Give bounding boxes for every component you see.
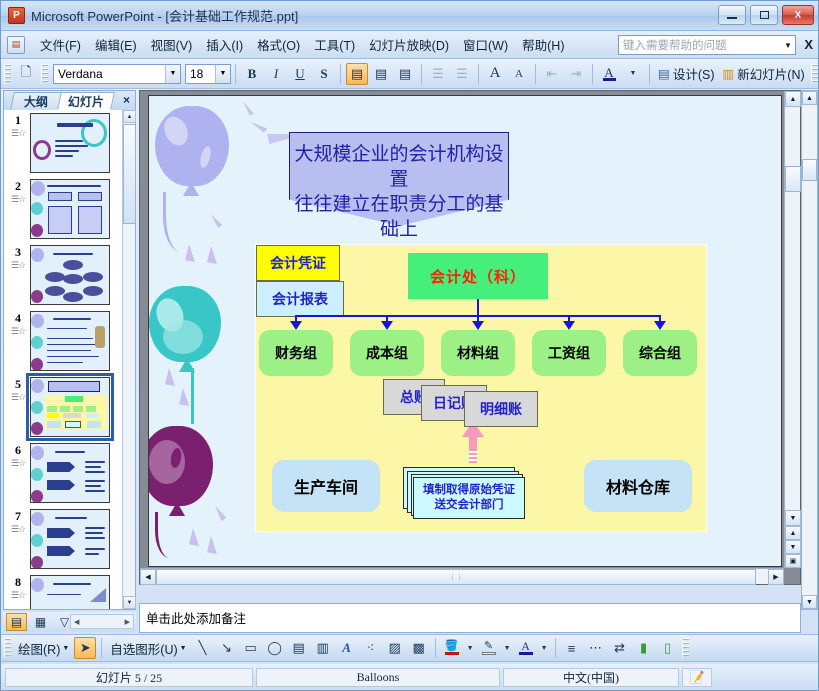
menu-insert[interactable]: 插入(I) (199, 32, 250, 57)
diagram-doc-voucher[interactable]: 会计凭证 (256, 245, 340, 281)
font-color-letter: A (521, 641, 530, 652)
slide-thumbnail-5[interactable] (30, 377, 110, 437)
slide-title-shape[interactable]: 大规模企业的会计机构设置 往往建立在职责分工的基础上 (289, 132, 509, 226)
diagram-group-3[interactable]: 材料组 (441, 330, 515, 376)
slide-editing-area[interactable]: 大规模企业的会计机构设置 往往建立在职责分工的基础上 会计处（科） (139, 90, 801, 585)
balloon-shape (31, 534, 43, 547)
balloon-shape (31, 401, 43, 414)
flow-label-line-2: 送交会计部门 (435, 498, 504, 513)
thumb-num-4: 4 (6, 311, 30, 326)
font-name-combo[interactable]: Verdana ▼ (53, 64, 181, 84)
design-icon: ▤ (658, 66, 670, 81)
thumbnail-number: 2 ☰☆ (6, 179, 30, 205)
separator (235, 64, 236, 84)
font-color-swatch (603, 78, 616, 81)
picture-icon[interactable]: ▩ (408, 637, 430, 659)
scroll-up-icon[interactable]: ▲ (123, 110, 136, 123)
list-item[interactable]: 3 ☰☆ (4, 242, 124, 308)
numbered-list-icon[interactable]: ☰ (427, 63, 449, 85)
slide-sorter-view-button[interactable]: ▦ (30, 613, 51, 631)
scroll-left-icon[interactable]: ◀ (140, 569, 156, 585)
scroll-left-icon[interactable]: ◀ (71, 618, 82, 626)
title-bar: P Microsoft PowerPoint - [会计基础工作规范.ppt] … (1, 1, 819, 31)
balloon-shape (31, 446, 44, 460)
new-slide-icon: ▥ (722, 66, 734, 81)
menu-edit[interactable]: 编辑(E) (88, 32, 144, 57)
transition-star-icon[interactable]: ☰☆ (6, 590, 30, 601)
status-language[interactable]: 中文(中国) (503, 668, 679, 687)
slide-canvas[interactable]: 大规模企业的会计机构设置 往往建立在职责分工的基础上 会计处（科） (148, 95, 782, 567)
scrollbar-thumb[interactable] (802, 159, 817, 181)
thumb-num-7: 7 (6, 509, 30, 524)
toolbar-overflow-handle[interactable] (682, 638, 689, 658)
arrow-down-icon (654, 321, 666, 330)
thumb-num-3: 3 (6, 245, 30, 260)
slide-horizontal-scrollbar[interactable]: ◀ ⋮⋮ ▶ (140, 568, 784, 584)
menu-file[interactable]: 文件(F) (33, 32, 88, 57)
chevron-down-icon[interactable]: ▼ (215, 65, 230, 83)
separator (478, 64, 479, 84)
slide-title-text: 大规模企业的会计机构设置 往往建立在职责分工的基础上 (289, 142, 509, 242)
formatting-toolbar: 🗋 Verdana ▼ 18 ▼ B I U S ▤ ▤ ▤ ☰ ☰ A A ⇤… (1, 59, 819, 89)
arrow-down-icon (381, 321, 393, 330)
scroll-down-icon[interactable]: ▼ (802, 595, 817, 609)
toolbar-overflow-handle[interactable] (811, 64, 818, 84)
powerpoint-window: P Microsoft PowerPoint - [会计基础工作规范.ppt] … (0, 0, 819, 691)
scroll-right-icon[interactable]: ▶ (768, 569, 784, 585)
toolbar-grip[interactable] (4, 638, 11, 658)
draw-menu-label: 绘图(R) (18, 639, 60, 658)
bold-button[interactable]: B (241, 63, 263, 85)
shadow-style-icon[interactable]: ▮ (633, 637, 655, 659)
align-right-icon[interactable]: ▤ (394, 63, 416, 85)
scrollbar-thumb[interactable] (785, 166, 801, 192)
scroll-right-icon[interactable]: ▶ (122, 618, 133, 626)
line-color-icon[interactable]: ✎ (478, 637, 500, 659)
menu-view[interactable]: 视图(V) (144, 32, 200, 57)
balloon-shape (31, 202, 43, 215)
diagram-doc-subsidiary[interactable]: 明细账 (464, 391, 538, 427)
chevron-down-icon[interactable]: ▼ (781, 41, 795, 50)
transition-star-icon[interactable]: ☰☆ (6, 326, 30, 337)
arrow-stripes (469, 451, 477, 463)
vertical-text-box-icon[interactable]: ▥ (312, 637, 334, 659)
sparkle (248, 122, 267, 133)
drawing-toolbar: 绘图(R) ▼ ➤ 自选图形(U) ▼ ╲ ↘ ▭ ◯ ▤ ▥ A ⁖ ▨ ▩ … (1, 634, 819, 662)
dash-style-icon[interactable]: ⋯ (585, 637, 607, 659)
title-decoration-flag (267, 134, 289, 144)
list-item[interactable]: 2 ☰☆ (4, 176, 124, 242)
balloon-shape (31, 468, 43, 481)
close-document-button[interactable]: X (804, 37, 813, 52)
separator (101, 638, 102, 658)
diagram-document-stack[interactable]: 填制取得原始凭证 送交会计部门 (403, 467, 525, 519)
transition-star-icon[interactable]: ☰☆ (6, 194, 30, 205)
menu-format[interactable]: 格式(O) (250, 32, 307, 57)
thumb-num-2: 2 (6, 179, 30, 194)
transition-star-icon[interactable]: ☰☆ (6, 128, 30, 139)
slide-thumbnail-7[interactable] (30, 509, 110, 569)
sparkle (189, 528, 199, 546)
text-box-icon[interactable]: ▤ (288, 637, 310, 659)
balloon-shape (31, 314, 44, 328)
design-label: 设计(S) (673, 64, 715, 83)
arrow-down-icon (472, 321, 484, 330)
minimize-button[interactable] (718, 5, 746, 25)
new-slide-label: 新幻灯片(N) (737, 64, 804, 83)
select-arrow-icon[interactable]: ➤ (74, 637, 96, 659)
pane-tabs: 大纲 幻灯片 × (4, 91, 135, 110)
balloon-shape (31, 224, 43, 237)
slide-thumbnail-8[interactable] (30, 575, 110, 609)
balloon-shape (31, 556, 43, 569)
arrow-down-icon (563, 321, 575, 330)
autoshapes-menu-button[interactable]: 自选图形(U) ▼ (106, 637, 190, 660)
rectangle-icon[interactable]: ▭ (240, 637, 262, 659)
status-bar: 幻灯片 5 / 25 Balloons 中文(中国) 📝 (1, 664, 819, 690)
sparkle (210, 506, 228, 522)
close-pane-button[interactable]: × (123, 93, 130, 107)
slide-thumbnail-6[interactable] (30, 443, 110, 503)
slide-thumbnail-2[interactable] (30, 179, 110, 239)
underline-button[interactable]: U (289, 63, 311, 85)
tab-outline-label: 大纲 (24, 93, 48, 110)
balloon-shape (31, 512, 44, 526)
balloon-shape (31, 422, 43, 435)
toolbar-grip-2[interactable] (41, 64, 48, 84)
italic-button[interactable]: I (265, 63, 287, 85)
transition-star-icon[interactable]: ☰☆ (6, 260, 30, 271)
design-button[interactable]: ▤ 设计(S) (654, 62, 718, 85)
scrollbar-thumb[interactable] (123, 124, 136, 224)
window-vertical-scrollbar[interactable]: ▲ ▼ (801, 90, 818, 610)
powerpoint-app-icon: P (8, 7, 25, 24)
sparkle (206, 214, 223, 229)
bulleted-list-icon[interactable]: ☰ (451, 63, 473, 85)
diagram-root-node[interactable]: 会计处（科） (408, 253, 548, 299)
font-color-letter: A (604, 67, 613, 78)
menu-tools[interactable]: 工具(T) (307, 32, 362, 57)
diagram-source-workshop[interactable]: 生产车间 (272, 460, 380, 512)
wordart-icon[interactable]: A (336, 637, 358, 659)
diagram-group-1[interactable]: 财务组 (259, 330, 333, 376)
select-browse-object-icon[interactable]: ▣ (785, 554, 801, 568)
chevron-down-icon[interactable]: ▼ (622, 63, 644, 85)
arrow-style-icon[interactable]: ⇄ (609, 637, 631, 659)
menu-window[interactable]: 窗口(W) (456, 32, 515, 57)
thumbnail-number: 6 ☰☆ (6, 443, 30, 469)
scroll-down-icon[interactable]: ▼ (785, 510, 801, 526)
notes-pane[interactable]: 单击此处添加备注 (139, 603, 801, 633)
separator (421, 64, 422, 84)
font-size-combo[interactable]: 18 ▼ (185, 64, 231, 84)
new-document-icon[interactable]: 🗋 (15, 63, 37, 85)
arrow-icon[interactable]: ↘ (216, 637, 238, 659)
slide-thumbnail-1[interactable] (30, 113, 110, 173)
decrease-font-size-icon[interactable]: A (508, 63, 530, 85)
line-icon[interactable]: ╲ (192, 637, 214, 659)
notes-placeholder[interactable]: 单击此处添加备注 (146, 612, 246, 626)
flow-arrow-up-icon (462, 421, 484, 463)
status-slide-indicator: 幻灯片 5 / 25 (5, 668, 253, 687)
diagram-group-4[interactable]: 工资组 (532, 330, 606, 376)
scroll-up-icon[interactable]: ▲ (785, 91, 801, 107)
thumbnail-number: 8 ☰☆ (6, 575, 30, 601)
list-item[interactable]: 8 ☰☆ (4, 572, 124, 609)
thumbnail-number: 5 ☰☆ (6, 377, 30, 403)
thumbnail-number: 4 ☰☆ (6, 311, 30, 337)
balloon-shape (31, 248, 44, 262)
sparkle (207, 246, 217, 264)
chevron-down-icon[interactable]: ▼ (165, 65, 180, 83)
new-slide-button[interactable]: ▥ 新幻灯片(N) (718, 62, 808, 85)
balloon-shape (31, 358, 43, 371)
status-design-name: Balloons (256, 668, 500, 687)
chevron-down-icon: ▼ (62, 645, 69, 652)
font-color-icon[interactable]: A (598, 63, 620, 85)
diagram-icon[interactable]: ⁖ (360, 637, 382, 659)
menu-slideshow[interactable]: 幻灯片放映(D) (362, 32, 456, 57)
flow-label-line-1: 填制取得原始凭证 (423, 483, 515, 498)
list-item-selected[interactable]: 5 ☰☆ (4, 374, 124, 440)
thumbnail-number: 1 ☰☆ (6, 113, 30, 139)
ask-a-question-box[interactable]: 键入需要帮助的问题 ▼ (618, 35, 796, 55)
slides-outline-pane: 大纲 幻灯片 × 1 ☰☆ (3, 90, 136, 610)
balloon-string (191, 368, 221, 424)
list-item[interactable]: 7 ☰☆ (4, 506, 124, 572)
line-color-swatch (482, 652, 496, 655)
balloon-purple-top (155, 106, 229, 186)
chevron-down-icon[interactable]: ▼ (539, 637, 550, 659)
line-style-icon[interactable]: ≡ (561, 637, 583, 659)
sparkle (179, 388, 189, 406)
separator (340, 64, 341, 84)
separator (435, 638, 436, 658)
chevron-down-icon[interactable]: ▼ (465, 637, 476, 659)
increase-font-size-icon[interactable]: A (484, 63, 506, 85)
connector-vertical-root (477, 299, 479, 316)
list-item[interactable]: 4 ☰☆ (4, 308, 124, 374)
balloon-string (163, 192, 193, 252)
next-slide-icon[interactable]: ▼ (785, 540, 801, 554)
balloon-shape (31, 379, 44, 393)
balloon-shape (31, 490, 43, 503)
decrease-indent-icon[interactable]: ⇤ (541, 63, 563, 85)
toolbar-grip[interactable] (4, 64, 11, 84)
slide-thumbnail-4[interactable] (30, 311, 110, 371)
transition-star-icon[interactable]: ☰☆ (6, 392, 30, 403)
separator (592, 64, 593, 84)
title-line-1: 大规模企业的会计机构设置 (289, 142, 509, 192)
thumbnail-number: 3 ☰☆ (6, 245, 30, 271)
fill-bucket-glyph: 🪣 (445, 641, 459, 652)
scroll-down-icon[interactable]: ▼ (123, 596, 136, 609)
separator (649, 64, 650, 84)
tab-slides-label: 幻灯片 (68, 93, 104, 110)
balloon-shape (31, 290, 43, 303)
tab-outline[interactable]: 大纲 (10, 92, 62, 110)
thumb-num-6: 6 (6, 443, 30, 458)
thumbnail-list[interactable]: 1 ☰☆ 2 ☰☆ (4, 110, 124, 609)
separator (535, 64, 536, 84)
align-left-icon[interactable]: ▤ (346, 63, 368, 85)
diagram-doc-report[interactable]: 会计报表 (256, 281, 344, 317)
shadow-button[interactable]: S (313, 63, 335, 85)
sparkle (239, 101, 255, 116)
previous-slide-icon[interactable]: ▲ (785, 526, 801, 540)
diagram-group-2[interactable]: 成本组 (350, 330, 424, 376)
font-size-value[interactable]: 18 (186, 67, 215, 81)
fill-color-icon[interactable]: 🪣 (441, 637, 463, 659)
scroll-up-icon[interactable]: ▲ (802, 91, 817, 105)
balloon-shape (31, 336, 43, 349)
balloon-teal (149, 286, 221, 362)
draw-menu-button[interactable]: 绘图(R) ▼ (14, 637, 73, 660)
org-chart-diagram[interactable]: 会计处（科） 财务组 成本组 材料组 工资组 综合组 (255, 244, 707, 532)
transition-star-icon[interactable]: ☰☆ (6, 458, 30, 469)
thumb-num-1: 1 (6, 113, 30, 128)
oval-icon[interactable]: ◯ (264, 637, 286, 659)
stack-front-card[interactable]: 填制取得原始凭证 送交会计部门 (413, 477, 525, 519)
font-color-swatch (519, 652, 533, 655)
slide-vertical-scrollbar[interactable]: ▲ ▼ ▲ ▼ ▣ (784, 91, 800, 568)
thumb-num-5: 5 (6, 377, 30, 392)
clip-art-icon[interactable]: ▨ (384, 637, 406, 659)
restore-button[interactable] (750, 5, 778, 25)
balloon-shape (31, 578, 44, 592)
list-item[interactable]: 1 ☰☆ (4, 110, 124, 176)
thumbnail-number: 7 ☰☆ (6, 509, 30, 535)
document-icon: ▤ (7, 36, 25, 54)
balloon-string (155, 512, 179, 558)
fill-color-swatch (445, 652, 459, 655)
balloon-shape (31, 181, 45, 196)
view-buttons-bar: ▤ ▦ ▽ ◀ ▶ (3, 612, 136, 632)
diagram-group-5[interactable]: 综合组 (623, 330, 697, 376)
pen-glyph: ✎ (484, 641, 493, 652)
menu-bar: ▤ 文件(F) 编辑(E) 视图(V) 插入(I) 格式(O) 工具(T) 幻灯… (1, 31, 819, 59)
close-button[interactable]: X (782, 5, 814, 25)
increase-indent-icon[interactable]: ⇥ (565, 63, 587, 85)
tab-slides[interactable]: 幻灯片 (57, 92, 115, 110)
window-buttons: X (718, 5, 814, 25)
balloon-shape (33, 140, 51, 160)
chevron-down-icon: ▼ (180, 645, 187, 652)
autoshapes-label: 自选图形(U) (110, 639, 177, 658)
thumbnail-scrollbar[interactable]: ▲ ▼ (122, 110, 135, 609)
sparkle (165, 368, 175, 386)
thumb-num-8: 8 (6, 575, 30, 590)
align-center-icon[interactable]: ▤ (370, 63, 392, 85)
separator (555, 638, 556, 658)
pane-horizontal-scrollbar[interactable]: ◀ ▶ (70, 614, 134, 629)
spell-check-icon[interactable]: 📝 (682, 668, 712, 687)
sparkle (207, 536, 217, 554)
balloon-purple-bottom (148, 426, 213, 506)
font-color-icon[interactable]: A (515, 637, 537, 659)
list-item[interactable]: 6 ☰☆ (4, 440, 124, 506)
diagram-source-warehouse[interactable]: 材料仓库 (584, 460, 692, 512)
ask-a-question-input[interactable]: 键入需要帮助的问题 (619, 37, 781, 53)
arrow-down-icon (290, 321, 302, 330)
chevron-down-icon[interactable]: ▼ (502, 637, 513, 659)
window-title: Microsoft PowerPoint - [会计基础工作规范.ppt] (31, 6, 298, 25)
normal-view-button[interactable]: ▤ (6, 613, 27, 631)
menu-help[interactable]: 帮助(H) (515, 32, 571, 57)
title-line-2: 往往建立在职责分工的基础上 (289, 192, 509, 242)
scrollbar-thumb[interactable]: ⋮⋮ (156, 569, 756, 585)
transition-star-icon[interactable]: ☰☆ (6, 524, 30, 535)
font-name-value[interactable]: Verdana (54, 67, 165, 81)
3d-style-icon[interactable]: ▯ (657, 637, 679, 659)
slide-thumbnail-3[interactable] (30, 245, 110, 305)
